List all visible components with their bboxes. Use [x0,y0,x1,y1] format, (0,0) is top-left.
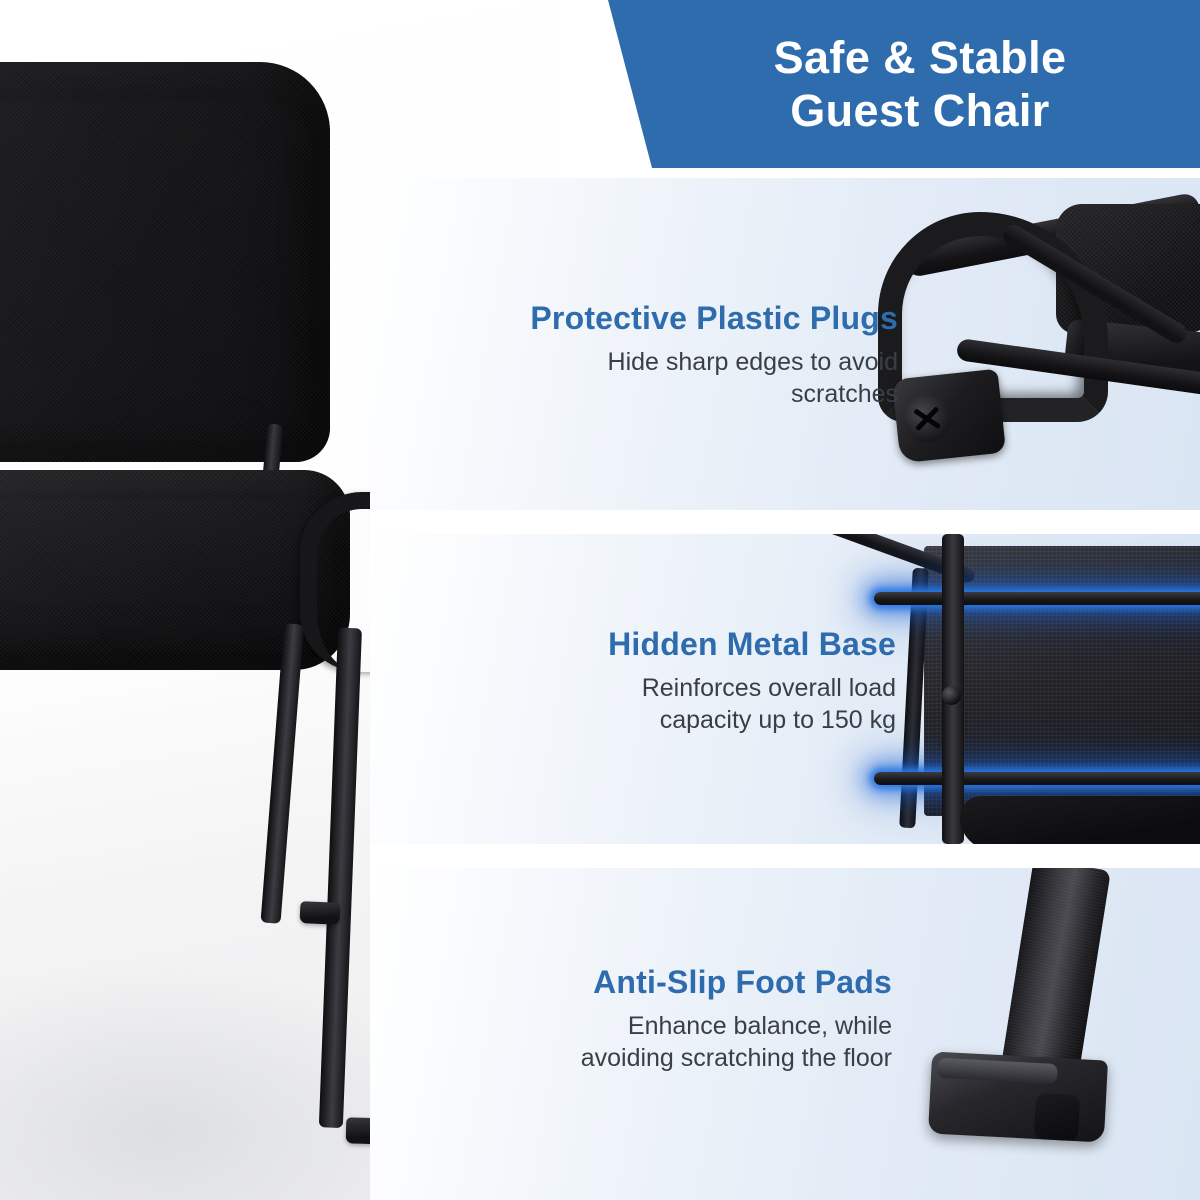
pad-top-lip [937,1058,1058,1084]
metal-support-bar-top [874,592,1200,605]
feature-card-hidden-metal-base: Hidden Metal Base Reinforces overall loa… [370,534,1200,844]
metal-support-bar-bottom [874,772,1200,785]
feature-card-protective-plastic-plugs: Protective Plastic Plugs Hide sharp edge… [370,178,1200,510]
plug-face [902,392,953,445]
banner-title-line-2: Guest Chair [790,84,1049,137]
chair-front-leg [319,628,362,1129]
feature-description: Hide sharp edges to avoid scratches [530,347,898,410]
feature-text-block: Hidden Metal Base Reinforces overall loa… [608,626,896,736]
section-divider-2 [370,844,1200,868]
pad-notch [1034,1093,1080,1141]
feature-description: Enhance balance, while avoiding scratchi… [581,1011,892,1074]
rear-foot-pad [300,901,341,925]
feature-list: Protective Plastic Plugs Hide sharp edge… [370,168,1200,1200]
header-banner: Safe & Stable Guest Chair [600,0,1200,168]
feature-card-anti-slip-foot-pads: Anti-Slip Foot Pads Enhance balance, whi… [370,868,1200,1200]
feature-title: Protective Plastic Plugs [530,300,898,337]
feature-text-block: Protective Plastic Plugs Hide sharp edge… [530,300,898,410]
banner-title-line-1: Safe & Stable [774,31,1067,84]
anti-slip-pad-icon [928,1051,1108,1142]
plastic-plug-icon [892,369,1006,464]
feature-title: Hidden Metal Base [608,626,896,663]
anti-slip-foot-pad-photo [870,868,1200,1200]
plastic-plug-closeup-photo [860,178,1200,510]
feature-text-block: Anti-Slip Foot Pads Enhance balance, whi… [581,964,892,1074]
feature-description: Reinforces overall load capacity up to 1… [608,673,896,736]
section-divider-1 [370,510,1200,534]
lower-cushion-edge [960,796,1200,844]
feature-title: Anti-Slip Foot Pads [581,964,892,1001]
product-feature-infographic: Safe & Stable Guest Chair [0,0,1200,1200]
chair-backrest-cushion [0,62,330,462]
screw-icon [942,686,961,705]
